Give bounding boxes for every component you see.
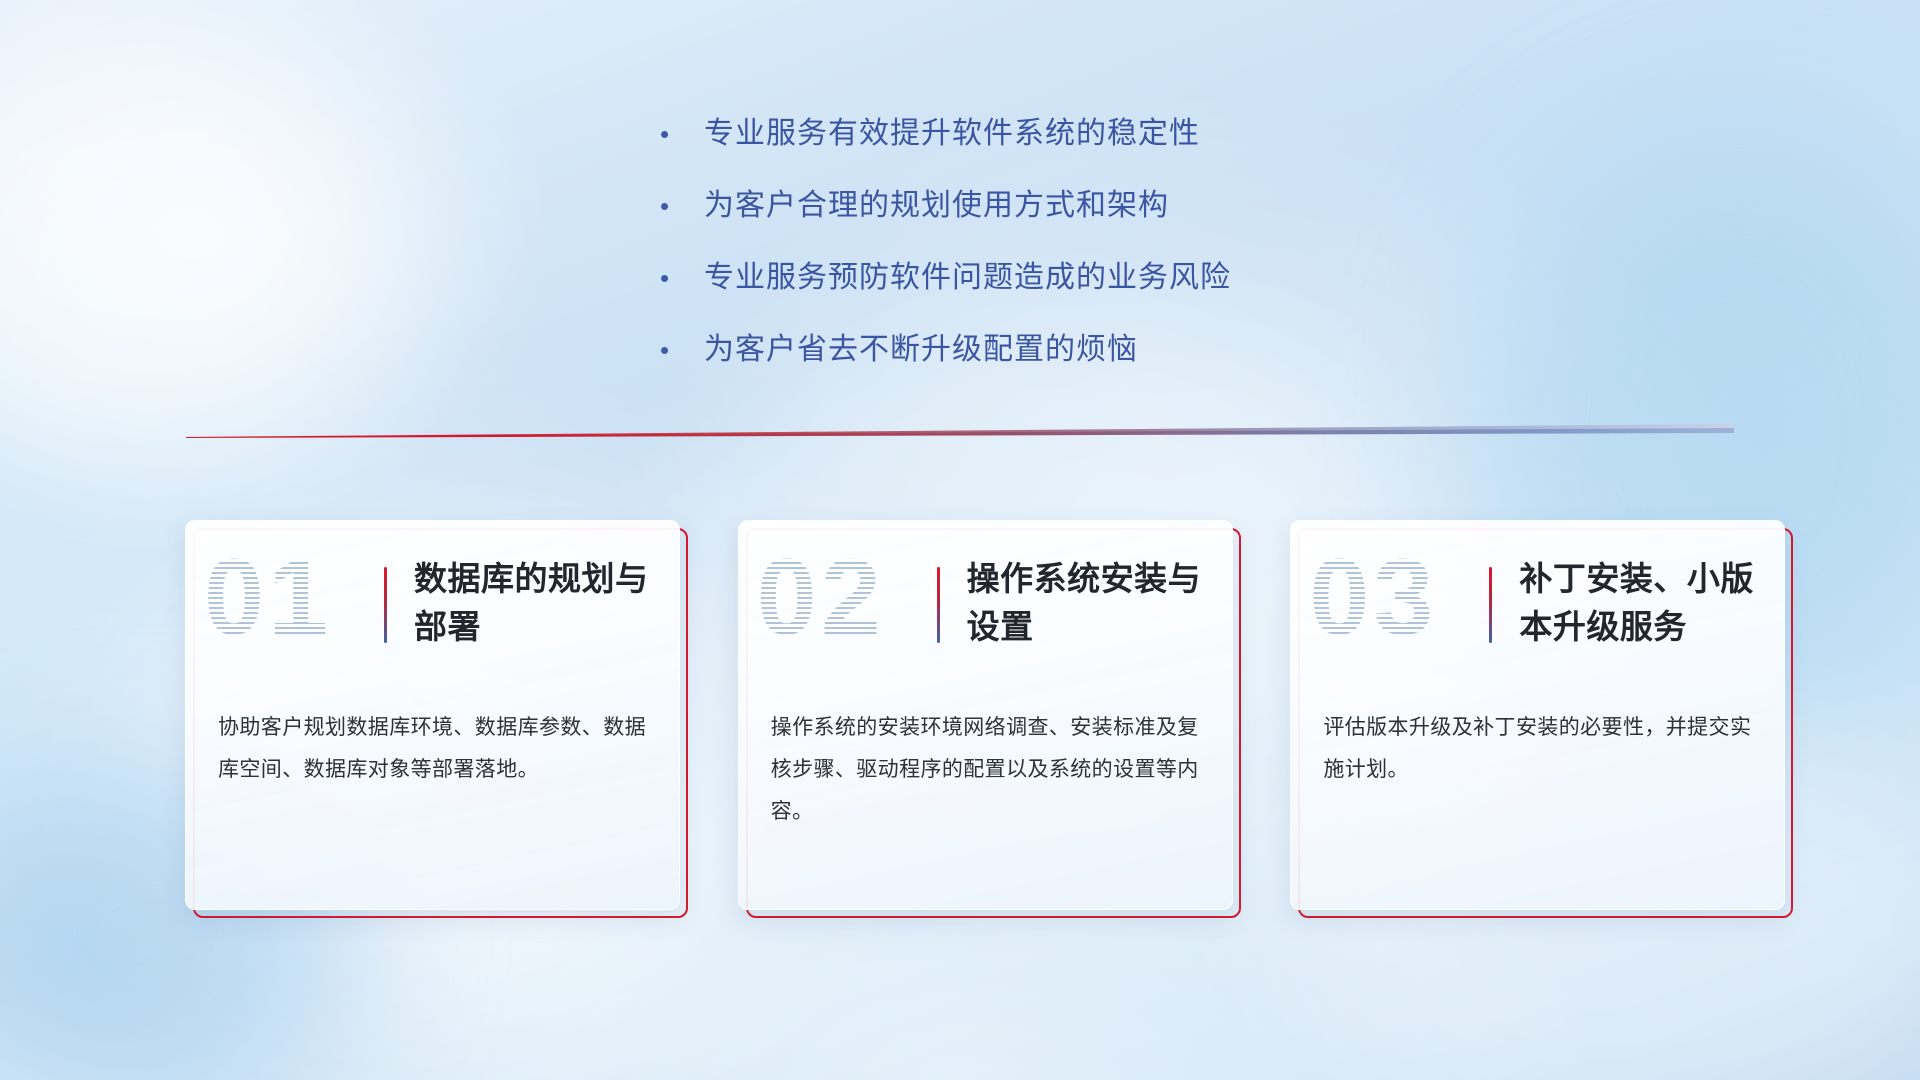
bullet-dot-icon: • [660, 193, 682, 219]
card-description: 协助客户规划数据库环境、数据库参数、数据库空间、数据库对象等部署落地。 [218, 707, 650, 791]
card-description: 评估版本升级及补丁安装的必要性，并提交实施计划。 [1323, 707, 1755, 791]
card-number-watermark: 03 [1309, 537, 1479, 657]
list-item: • 为客户省去不断升级配置的烦恼 [660, 324, 1460, 368]
background-blob [0, 40, 400, 460]
list-item: • 专业服务预防软件问题造成的业务风险 [660, 252, 1460, 296]
card-surface: 01 数据库的规划与部署 协助客户规划数据库环境、数据库参数、数据库空间、数据库… [185, 520, 680, 910]
card-title: 操作系统安装与设置 [967, 555, 1217, 651]
card-header: 03 补丁安装、小版本升级服务 [1291, 521, 1784, 689]
bullet-dot-icon: • [660, 121, 682, 147]
divider-wedge-icon [186, 424, 1734, 438]
card-title: 数据库的规划与部署 [414, 555, 664, 651]
slide-canvas: • 专业服务有效提升软件系统的稳定性 • 为客户合理的规划使用方式和架构 • 专… [0, 0, 1920, 1080]
list-item-label: 专业服务有效提升软件系统的稳定性 [704, 108, 1200, 152]
card-header: 02 操作系统安装与设置 [739, 521, 1232, 689]
service-card[interactable]: 02 操作系统安装与设置 操作系统的安装环境网络调查、安装标准及复核步骤、驱动程… [738, 520, 1233, 910]
card-header: 01 数据库的规划与部署 [186, 521, 679, 689]
card-surface: 02 操作系统安装与设置 操作系统的安装环境网络调查、安装标准及复核步骤、驱动程… [738, 520, 1233, 910]
card-title: 补丁安装、小版本升级服务 [1519, 555, 1769, 651]
benefits-bullet-list: • 专业服务有效提升软件系统的稳定性 • 为客户合理的规划使用方式和架构 • 专… [660, 108, 1460, 396]
bullet-dot-icon: • [660, 265, 682, 291]
card-surface: 03 补丁安装、小版本升级服务 评估版本升级及补丁安装的必要性，并提交实施计划。 [1290, 520, 1785, 910]
card-number-watermark: 02 [757, 537, 927, 657]
card-number-watermark: 01 [204, 537, 374, 657]
service-card-list: 01 数据库的规划与部署 协助客户规划数据库环境、数据库参数、数据库空间、数据库… [185, 520, 1785, 920]
card-accent-bar [937, 567, 940, 643]
list-item: • 专业服务有效提升软件系统的稳定性 [660, 108, 1460, 152]
list-item: • 为客户合理的规划使用方式和架构 [660, 180, 1460, 224]
card-description: 操作系统的安装环境网络调查、安装标准及复核步骤、驱动程序的配置以及系统的设置等内… [771, 707, 1203, 833]
bullet-dot-icon: • [660, 337, 682, 363]
service-card[interactable]: 03 补丁安装、小版本升级服务 评估版本升级及补丁安装的必要性，并提交实施计划。 [1290, 520, 1785, 910]
service-card[interactable]: 01 数据库的规划与部署 协助客户规划数据库环境、数据库参数、数据库空间、数据库… [185, 520, 680, 910]
card-accent-bar [384, 567, 387, 643]
list-item-label: 专业服务预防软件问题造成的业务风险 [704, 252, 1231, 296]
list-item-label: 为客户合理的规划使用方式和架构 [704, 180, 1169, 224]
list-item-label: 为客户省去不断升级配置的烦恼 [704, 324, 1138, 368]
section-divider [186, 424, 1734, 438]
card-accent-bar [1489, 567, 1492, 643]
